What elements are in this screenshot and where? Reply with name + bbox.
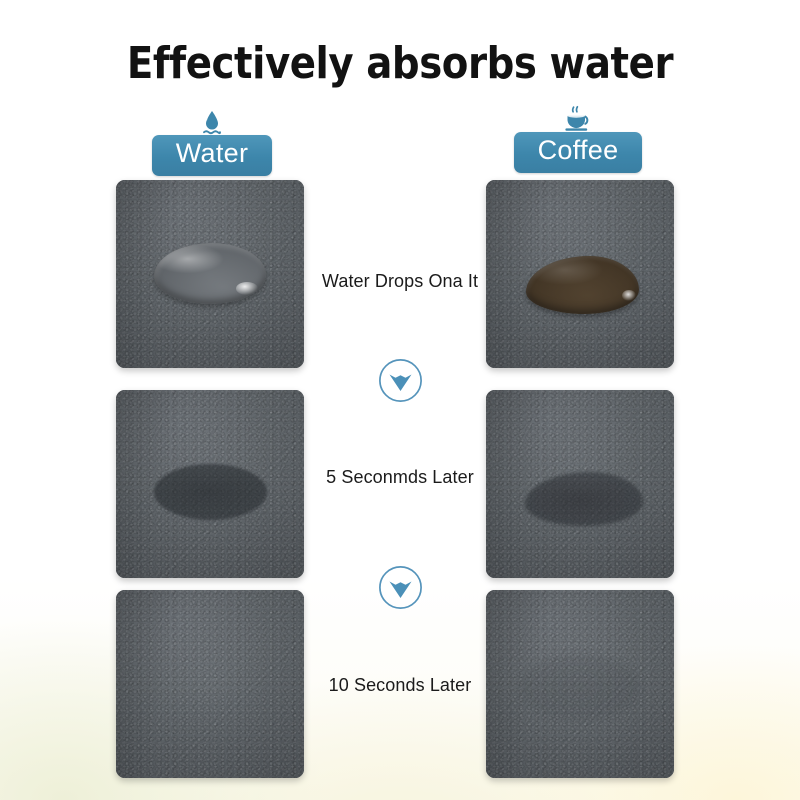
water-drop-icon xyxy=(112,108,312,138)
page-title: Effectively absorbs water xyxy=(48,38,752,89)
badge-label-coffee: Coffee xyxy=(514,132,643,173)
chevron-down-icon xyxy=(378,358,423,403)
badge-label-water: Water xyxy=(152,135,273,176)
column-header-water: Water xyxy=(112,108,312,176)
photo-vignette xyxy=(486,390,674,578)
step-label-10-seconds: 10 Seconds Later xyxy=(300,675,500,696)
photo-water-step-2 xyxy=(116,590,304,778)
photo-vignette xyxy=(486,180,674,368)
coffee-cup-icon xyxy=(478,105,678,135)
column-header-coffee: Coffee xyxy=(478,105,678,173)
photo-coffee-step-0 xyxy=(486,180,674,368)
infographic-canvas: Effectively absorbs water Water Coffee xyxy=(0,0,800,800)
step-label-5-seconds: 5 Seconmds Later xyxy=(300,467,500,488)
step-label-drops: Water Drops Ona It xyxy=(300,271,500,292)
photo-vignette xyxy=(486,590,674,778)
photo-vignette xyxy=(116,180,304,368)
photo-vignette xyxy=(116,390,304,578)
photo-water-step-0 xyxy=(116,180,304,368)
chevron-down-icon xyxy=(378,565,423,610)
photo-coffee-step-2 xyxy=(486,590,674,778)
photo-coffee-step-1 xyxy=(486,390,674,578)
photo-water-step-1 xyxy=(116,390,304,578)
photo-vignette xyxy=(116,590,304,778)
